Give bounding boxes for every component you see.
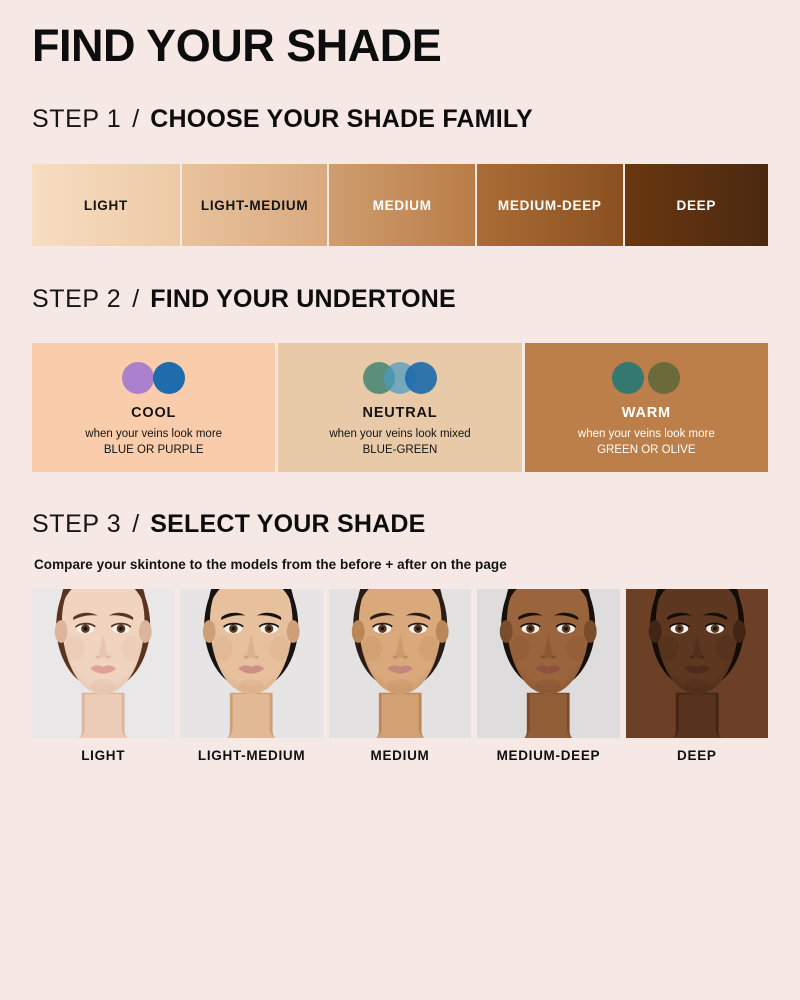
model-photo-deep [626,589,768,738]
step-1-label: CHOOSE YOUR SHADE FAMILY [150,105,533,134]
model-tile-light-medium[interactable] [180,589,322,738]
shade-finder-page: FIND YOUR SHADE STEP 1 / CHOOSE YOUR SHA… [0,0,800,1000]
model-label-medium-deep: MEDIUM-DEEP [477,748,619,763]
model-tile-deep[interactable] [626,589,768,738]
model-photo-row [32,589,768,738]
shade-family-segment-deep[interactable]: DEEP [623,164,768,246]
shade-family-segment-medium[interactable]: MEDIUM [327,164,475,246]
undertone-dot-group [612,362,680,394]
model-photo-medium-deep [477,589,619,738]
shade-family-segment-medium-deep[interactable]: MEDIUM-DEEP [475,164,623,246]
step-2-heading: STEP 2 / FIND YOUR UNDERTONE [32,285,456,314]
undertone-description-line: when your veins look more [578,428,715,440]
step-1-heading: STEP 1 / CHOOSE YOUR SHADE FAMILY [32,105,533,134]
model-photo-light-medium [180,589,322,738]
shade-family-segment-label: DEEP [677,198,717,213]
undertone-description-line: when your veins look mixed [329,428,470,440]
undertone-emphasis-line: BLUE-GREEN [329,443,470,459]
shade-family-segment-light-medium[interactable]: LIGHT-MEDIUM [180,164,328,246]
undertone-title: COOL [131,405,176,421]
undertone-emphasis-line: BLUE OR PURPLE [85,443,222,459]
undertone-dot-group [363,362,437,394]
step-3-heading: STEP 3 / SELECT YOUR SHADE [32,510,425,539]
model-label-medium: MEDIUM [329,748,471,763]
undertone-panels: COOLwhen your veins look moreBLUE OR PUR… [32,343,768,472]
shade-family-segment-label: MEDIUM [373,198,432,213]
undertone-description: when your veins look moreGREEN OR OLIVE [578,427,715,459]
model-label-row: LIGHTLIGHT-MEDIUMMEDIUMMEDIUM-DEEPDEEP [32,748,768,763]
undertone-panel-neutral[interactable]: NEUTRALwhen your veins look mixedBLUE-GR… [278,343,521,472]
step-2-separator: / [132,285,139,314]
step-2-label: FIND YOUR UNDERTONE [150,285,456,314]
step-3-separator: / [132,510,139,539]
shade-family-bar: LIGHTLIGHT-MEDIUMMEDIUMMEDIUM-DEEPDEEP [32,164,768,246]
step-2-number: STEP 2 [32,285,121,314]
model-photo-light [32,589,174,738]
undertone-title: NEUTRAL [363,405,438,421]
shade-family-segment-label: LIGHT [84,198,128,213]
model-label-light-medium: LIGHT-MEDIUM [180,748,322,763]
step-3-subtitle: Compare your skintone to the models from… [34,557,507,572]
blue-dot [153,362,185,394]
undertone-dot-group [122,362,185,394]
undertone-description: when your veins look mixedBLUE-GREEN [329,427,470,459]
shade-family-segment-label: MEDIUM-DEEP [498,198,602,213]
model-tile-medium[interactable] [329,589,471,738]
step-3-number: STEP 3 [32,510,121,539]
undertone-emphasis-line: GREEN OR OLIVE [578,443,715,459]
purple-dot [122,362,154,394]
olive-dot [648,362,680,394]
step-1-number: STEP 1 [32,105,121,134]
shade-family-segment-light[interactable]: LIGHT [32,164,180,246]
model-label-light: LIGHT [32,748,174,763]
step-3-label: SELECT YOUR SHADE [150,510,425,539]
undertone-title: WARM [622,405,671,421]
model-photo-medium [329,589,471,738]
undertone-description: when your veins look moreBLUE OR PURPLE [85,427,222,459]
undertone-description-line: when your veins look more [85,428,222,440]
undertone-panel-cool[interactable]: COOLwhen your veins look moreBLUE OR PUR… [32,343,275,472]
model-label-deep: DEEP [626,748,768,763]
undertone-panel-warm[interactable]: WARMwhen your veins look moreGREEN OR OL… [525,343,768,472]
model-tile-medium-deep[interactable] [477,589,619,738]
teal-dot [612,362,644,394]
page-title: FIND YOUR SHADE [32,22,441,71]
model-tile-light[interactable] [32,589,174,738]
shade-family-segment-label: LIGHT-MEDIUM [201,198,308,213]
step-1-separator: / [132,105,139,134]
blue-dot [405,362,437,394]
